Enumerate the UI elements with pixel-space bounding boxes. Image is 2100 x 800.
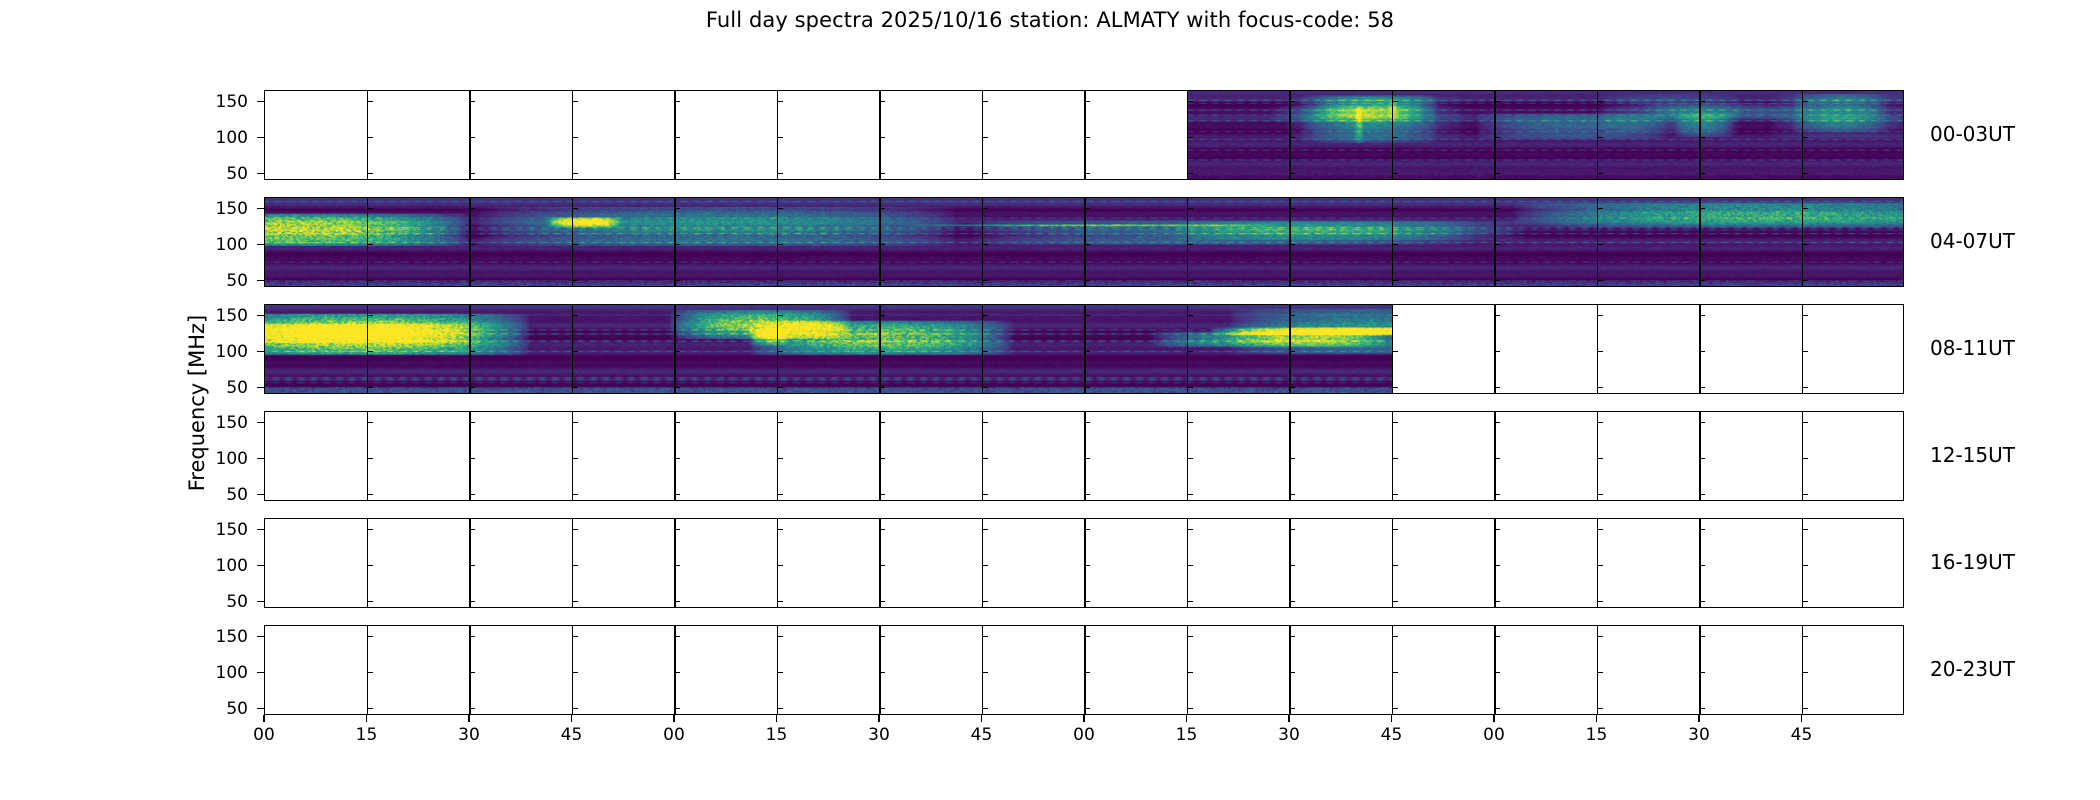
x-tick-label: 45 [957, 725, 1007, 745]
panel-separator [1289, 198, 1290, 286]
spectrogram-figure: Full day spectra 2025/10/16 station: ALM… [0, 0, 2100, 800]
row-axes [264, 197, 1904, 287]
x-tick-label: 15 [1162, 725, 1212, 745]
x-tick-mark [1801, 715, 1802, 722]
y-tick-mark [257, 244, 264, 245]
panel-separator [1597, 519, 1598, 607]
panel-separator [982, 519, 983, 607]
y-tick-mark-inner [879, 672, 885, 673]
y-tick-mark-inner [1802, 280, 1808, 281]
y-tick-mark-inner [1289, 387, 1295, 388]
panel-separator [367, 305, 368, 393]
panel-separator [777, 198, 778, 286]
panel-separator [1699, 198, 1700, 286]
y-tick-mark-inner [777, 173, 783, 174]
y-tick-mark-inner [1187, 636, 1193, 637]
y-tick-mark [257, 672, 264, 673]
y-tick-mark [257, 636, 264, 637]
y-tick-mark-inner [1289, 565, 1295, 566]
y-tick-mark-inner [1084, 494, 1090, 495]
panel-separator [879, 305, 880, 393]
x-tick-label: 15 [342, 725, 392, 745]
y-tick-mark-inner [1084, 280, 1090, 281]
y-tick-mark-inner [1289, 672, 1295, 673]
y-tick-label: 50 [188, 271, 248, 291]
panel-separator [572, 412, 573, 500]
row-axes [264, 90, 1904, 180]
y-tick-mark-inner [982, 601, 988, 602]
y-tick-mark-inner [1084, 565, 1090, 566]
spectrogram-image [1188, 91, 1905, 179]
panel-separator [1392, 198, 1393, 286]
y-tick-mark [257, 137, 264, 138]
panel-separator [1494, 519, 1495, 607]
y-tick-mark-inner [1289, 529, 1295, 530]
y-tick-mark-inner [1187, 494, 1193, 495]
panel-separator [367, 626, 368, 714]
y-tick-label: 50 [188, 164, 248, 184]
y-tick-label: 100 [188, 556, 248, 576]
y-tick-mark-inner [1699, 315, 1705, 316]
x-tick-label: 30 [854, 725, 904, 745]
y-tick-mark-inner [367, 708, 373, 709]
y-tick-mark-inner [367, 672, 373, 673]
y-tick-mark-inner [1699, 351, 1705, 352]
y-tick-mark-inner [982, 280, 988, 281]
spectrogram-data-block [1188, 91, 1905, 179]
y-tick-mark-inner [982, 208, 988, 209]
y-tick-mark-inner [1392, 422, 1398, 423]
y-tick-mark-inner [1802, 387, 1808, 388]
panel-separator [674, 412, 675, 500]
y-tick-mark-inner [1289, 422, 1295, 423]
panel-separator [674, 91, 675, 179]
y-tick-mark-inner [1699, 708, 1705, 709]
y-tick-mark-inner [879, 458, 885, 459]
y-tick-mark-inner [1392, 137, 1398, 138]
y-tick-mark-inner [777, 137, 783, 138]
y-tick-mark [257, 529, 264, 530]
spectrogram-row-08-11ut[interactable]: 50100150 [264, 304, 1904, 394]
y-tick-mark-inner [982, 529, 988, 530]
panel-separator [1084, 412, 1085, 500]
y-tick-mark-inner [1699, 672, 1705, 673]
panel-separator [1802, 626, 1803, 714]
y-tick-mark-inner [367, 244, 373, 245]
y-tick-label: 100 [188, 235, 248, 255]
spectrogram-row-04-07ut[interactable]: 50100150 [264, 197, 1904, 287]
y-tick-mark-inner [572, 636, 578, 637]
y-tick-mark-inner [1597, 529, 1603, 530]
y-tick-mark-inner [469, 173, 475, 174]
panel-separator [367, 412, 368, 500]
y-tick-mark-inner [572, 173, 578, 174]
y-tick-mark-inner [879, 208, 885, 209]
y-tick-mark-inner [1494, 529, 1500, 530]
y-tick-mark-inner [1084, 672, 1090, 673]
y-tick-mark-inner [1084, 422, 1090, 423]
y-tick-mark-inner [1699, 280, 1705, 281]
y-tick-mark-inner [777, 387, 783, 388]
y-tick-mark-inner [1084, 315, 1090, 316]
panel-separator [367, 91, 368, 179]
y-tick-mark-inner [572, 529, 578, 530]
y-tick-mark-inner [1802, 173, 1808, 174]
x-tick-label: 00 [239, 725, 289, 745]
y-tick-mark-inner [367, 351, 373, 352]
panel-separator [1392, 412, 1393, 500]
y-tick-mark-inner [469, 208, 475, 209]
y-tick-label: 50 [188, 485, 248, 505]
y-tick-mark-inner [572, 351, 578, 352]
y-tick-mark-inner [1802, 137, 1808, 138]
x-tick-label: 00 [649, 725, 699, 745]
panel-separator [1802, 412, 1803, 500]
panel-separator [982, 91, 983, 179]
panel-separator [572, 626, 573, 714]
panel-separator [1802, 198, 1803, 286]
y-tick-mark-inner [1392, 529, 1398, 530]
panel-separator [1187, 198, 1188, 286]
y-tick-mark-inner [1187, 601, 1193, 602]
y-tick-label: 50 [188, 592, 248, 612]
y-tick-mark-inner [367, 173, 373, 174]
y-tick-mark-inner [1494, 101, 1500, 102]
y-tick-mark-inner [982, 708, 988, 709]
y-tick-mark-inner [982, 458, 988, 459]
y-tick-mark-inner [879, 173, 885, 174]
y-tick-mark-inner [1494, 422, 1500, 423]
y-tick-mark-inner [879, 708, 885, 709]
spectrogram-row-16-19ut[interactable]: 50100150 [264, 518, 1904, 608]
y-tick-mark-inner [1084, 529, 1090, 530]
y-tick-mark [257, 494, 264, 495]
spectrogram-image [265, 305, 1393, 393]
y-tick-mark-inner [1289, 315, 1295, 316]
y-tick-mark-inner [572, 708, 578, 709]
panel-separator [1494, 198, 1495, 286]
y-tick-mark-inner [572, 101, 578, 102]
panel-separator [1084, 91, 1085, 179]
y-tick-mark-inner [1187, 101, 1193, 102]
y-tick-label: 50 [188, 378, 248, 398]
y-tick-mark-inner [1187, 422, 1193, 423]
x-tick-mark [1186, 715, 1187, 722]
y-tick-mark-inner [777, 672, 783, 673]
y-tick-mark-inner [1494, 315, 1500, 316]
y-tick-mark [257, 351, 264, 352]
y-tick-mark-inner [367, 565, 373, 566]
y-tick-mark-inner [1802, 672, 1808, 673]
y-tick-mark-inner [469, 458, 475, 459]
y-tick-label: 50 [188, 699, 248, 719]
y-tick-mark-inner [1597, 708, 1603, 709]
y-tick-mark-inner [1289, 280, 1295, 281]
y-tick-mark-inner [982, 137, 988, 138]
y-tick-mark-inner [572, 422, 578, 423]
spectrogram-row-20-23ut[interactable]: 50100150 [264, 625, 1904, 715]
y-tick-mark-inner [1699, 137, 1705, 138]
y-tick-label: 100 [188, 449, 248, 469]
x-tick-mark [1698, 715, 1699, 722]
y-tick-mark-inner [469, 494, 475, 495]
row-axes [264, 625, 1904, 715]
panel-separator [367, 519, 368, 607]
y-tick-mark [257, 708, 264, 709]
y-tick-label: 150 [188, 520, 248, 540]
y-tick-mark-inner [982, 636, 988, 637]
panel-separator [1802, 305, 1803, 393]
y-tick-mark-inner [1699, 529, 1705, 530]
y-tick-mark-inner [572, 137, 578, 138]
panel-separator [1084, 305, 1085, 393]
panel-separator [1597, 626, 1598, 714]
y-tick-mark-inner [1802, 636, 1808, 637]
row-axes [264, 518, 1904, 608]
y-tick-mark-inner [469, 280, 475, 281]
panel-separator [469, 519, 470, 607]
y-tick-label: 150 [188, 306, 248, 326]
y-tick-mark-inner [674, 494, 680, 495]
y-tick-mark-inner [777, 244, 783, 245]
y-tick-mark-inner [674, 636, 680, 637]
x-tick-label: 30 [444, 725, 494, 745]
y-tick-mark-inner [982, 387, 988, 388]
panel-separator [1597, 91, 1598, 179]
y-tick-mark-inner [1597, 315, 1603, 316]
y-tick-mark-inner [1699, 458, 1705, 459]
y-tick-mark-inner [1084, 101, 1090, 102]
y-tick-mark-inner [1802, 351, 1808, 352]
panel-separator [469, 626, 470, 714]
y-tick-mark-inner [1597, 101, 1603, 102]
y-tick-mark [257, 565, 264, 566]
y-tick-mark-inner [367, 280, 373, 281]
x-tick-mark [1083, 715, 1084, 722]
y-tick-mark-inner [1597, 387, 1603, 388]
y-tick-mark-inner [469, 636, 475, 637]
y-tick-mark-inner [1392, 387, 1398, 388]
y-tick-mark-inner [879, 244, 885, 245]
y-tick-mark-inner [1802, 244, 1808, 245]
panel-separator [1802, 91, 1803, 179]
y-tick-mark-inner [1289, 173, 1295, 174]
panel-separator [1187, 305, 1188, 393]
row-label-12-15ut: 12-15UT [1930, 443, 2015, 467]
panel-separator [879, 412, 880, 500]
y-tick-mark-inner [1289, 708, 1295, 709]
y-tick-mark-inner [1597, 672, 1603, 673]
x-tick-mark [571, 715, 572, 722]
y-tick-mark-inner [1494, 601, 1500, 602]
y-tick-mark-inner [367, 601, 373, 602]
panel-separator [1289, 305, 1290, 393]
y-tick-mark-inner [982, 351, 988, 352]
y-tick-mark-inner [982, 672, 988, 673]
y-tick-mark-inner [1392, 101, 1398, 102]
y-tick-mark-inner [1084, 601, 1090, 602]
y-tick-mark-inner [1084, 244, 1090, 245]
y-tick-mark-inner [367, 636, 373, 637]
y-tick-mark-inner [1699, 173, 1705, 174]
y-tick-mark-inner [367, 137, 373, 138]
y-tick-mark-inner [1084, 137, 1090, 138]
y-tick-mark-inner [1084, 351, 1090, 352]
y-tick-mark-inner [1289, 351, 1295, 352]
x-tick-label: 30 [1674, 725, 1724, 745]
y-tick-mark-inner [1699, 208, 1705, 209]
y-tick-mark-inner [367, 458, 373, 459]
y-tick-mark-inner [1392, 494, 1398, 495]
y-tick-mark-inner [879, 529, 885, 530]
y-tick-mark [257, 315, 264, 316]
panel-separator [777, 305, 778, 393]
y-tick-mark-inner [572, 601, 578, 602]
y-tick-mark-inner [674, 672, 680, 673]
panel-separator [674, 305, 675, 393]
y-tick-mark-inner [1289, 494, 1295, 495]
y-tick-mark-inner [1802, 422, 1808, 423]
y-tick-mark-inner [777, 422, 783, 423]
y-tick-mark-inner [1289, 636, 1295, 637]
x-tick-mark [776, 715, 777, 722]
row-label-08-11ut: 08-11UT [1930, 336, 2015, 360]
spectrogram-data-block [265, 305, 1393, 393]
y-tick-mark [257, 280, 264, 281]
y-tick-mark-inner [1699, 101, 1705, 102]
x-tick-label: 00 [1469, 725, 1519, 745]
panel-separator [469, 198, 470, 286]
y-tick-mark-inner [879, 422, 885, 423]
y-tick-mark-inner [1494, 672, 1500, 673]
panel-separator [1289, 412, 1290, 500]
panel-separator [1084, 198, 1085, 286]
y-tick-mark-inner [1597, 601, 1603, 602]
panel-separator [1494, 626, 1495, 714]
panel-separator [1699, 412, 1700, 500]
y-tick-mark-inner [1494, 494, 1500, 495]
y-tick-mark-inner [674, 244, 680, 245]
y-tick-label: 150 [188, 199, 248, 219]
y-tick-mark-inner [367, 494, 373, 495]
y-tick-mark-inner [469, 422, 475, 423]
spectrogram-row-00-03ut[interactable]: 50100150 [264, 90, 1904, 180]
y-tick-mark-inner [674, 208, 680, 209]
panel-separator [1597, 412, 1598, 500]
y-tick-mark-inner [572, 387, 578, 388]
y-tick-mark [257, 387, 264, 388]
panel-separator [674, 626, 675, 714]
y-tick-mark-inner [1084, 208, 1090, 209]
y-tick-mark-inner [1597, 244, 1603, 245]
x-tick-mark [366, 715, 367, 722]
y-tick-mark-inner [674, 458, 680, 459]
x-tick-label: 45 [1367, 725, 1417, 745]
y-tick-mark-inner [1802, 458, 1808, 459]
y-tick-mark-inner [982, 101, 988, 102]
y-tick-mark-inner [1187, 137, 1193, 138]
x-tick-label: 45 [547, 725, 597, 745]
panel-separator [1289, 91, 1290, 179]
y-tick-mark-inner [367, 422, 373, 423]
y-tick-mark-inner [1597, 422, 1603, 423]
y-tick-mark-inner [1494, 208, 1500, 209]
x-tick-mark [1596, 715, 1597, 722]
x-tick-mark [1391, 715, 1392, 722]
y-tick-mark-inner [1699, 244, 1705, 245]
y-tick-mark-inner [1597, 173, 1603, 174]
y-tick-mark-inner [1392, 458, 1398, 459]
y-tick-mark-inner [1802, 494, 1808, 495]
y-tick-mark-inner [1392, 708, 1398, 709]
y-tick-mark-inner [1187, 565, 1193, 566]
y-tick-mark-inner [469, 101, 475, 102]
panel-separator [1392, 626, 1393, 714]
y-tick-mark-inner [674, 565, 680, 566]
panel-separator [1802, 519, 1803, 607]
y-tick-mark-inner [1494, 387, 1500, 388]
y-tick-mark-inner [469, 351, 475, 352]
y-tick-mark-inner [469, 387, 475, 388]
y-tick-mark-inner [1802, 708, 1808, 709]
y-tick-mark-inner [674, 280, 680, 281]
panel-separator [469, 305, 470, 393]
panel-separator [1187, 412, 1188, 500]
y-tick-mark-inner [1699, 636, 1705, 637]
y-tick-mark-inner [879, 565, 885, 566]
y-tick-label: 100 [188, 342, 248, 362]
y-tick-mark-inner [777, 458, 783, 459]
y-tick-mark-inner [469, 315, 475, 316]
y-tick-mark-inner [879, 636, 885, 637]
y-tick-mark-inner [1392, 173, 1398, 174]
y-tick-mark-inner [1187, 351, 1193, 352]
y-tick-mark-inner [982, 422, 988, 423]
x-tick-mark [263, 715, 264, 722]
row-axes [264, 304, 1904, 394]
y-tick-mark-inner [777, 601, 783, 602]
spectrogram-row-12-15ut[interactable]: 50100150 [264, 411, 1904, 501]
y-tick-mark-inner [572, 244, 578, 245]
y-tick-mark-inner [879, 137, 885, 138]
row-axes [264, 411, 1904, 501]
panel-separator [982, 305, 983, 393]
y-tick-mark-inner [1699, 422, 1705, 423]
panel-separator [367, 198, 368, 286]
y-tick-mark-inner [469, 708, 475, 709]
panel-separator [777, 412, 778, 500]
y-tick-mark-inner [1187, 458, 1193, 459]
y-tick-mark-inner [1597, 494, 1603, 495]
y-tick-mark-inner [674, 315, 680, 316]
y-tick-mark-inner [1187, 708, 1193, 709]
y-tick-mark-inner [879, 101, 885, 102]
y-axis-label: Frequency [MHz] [185, 193, 211, 613]
y-tick-mark-inner [1187, 173, 1193, 174]
y-tick-mark-inner [777, 636, 783, 637]
y-tick-mark-inner [1494, 173, 1500, 174]
y-tick-mark-inner [367, 529, 373, 530]
y-tick-mark [257, 422, 264, 423]
y-tick-mark-inner [469, 529, 475, 530]
y-tick-mark-inner [469, 601, 475, 602]
y-tick-mark-inner [572, 458, 578, 459]
y-tick-mark-inner [1494, 636, 1500, 637]
x-tick-label: 00 [1059, 725, 1109, 745]
y-tick-mark-inner [469, 244, 475, 245]
panel-separator [1699, 91, 1700, 179]
row-label-20-23ut: 20-23UT [1930, 657, 2015, 681]
